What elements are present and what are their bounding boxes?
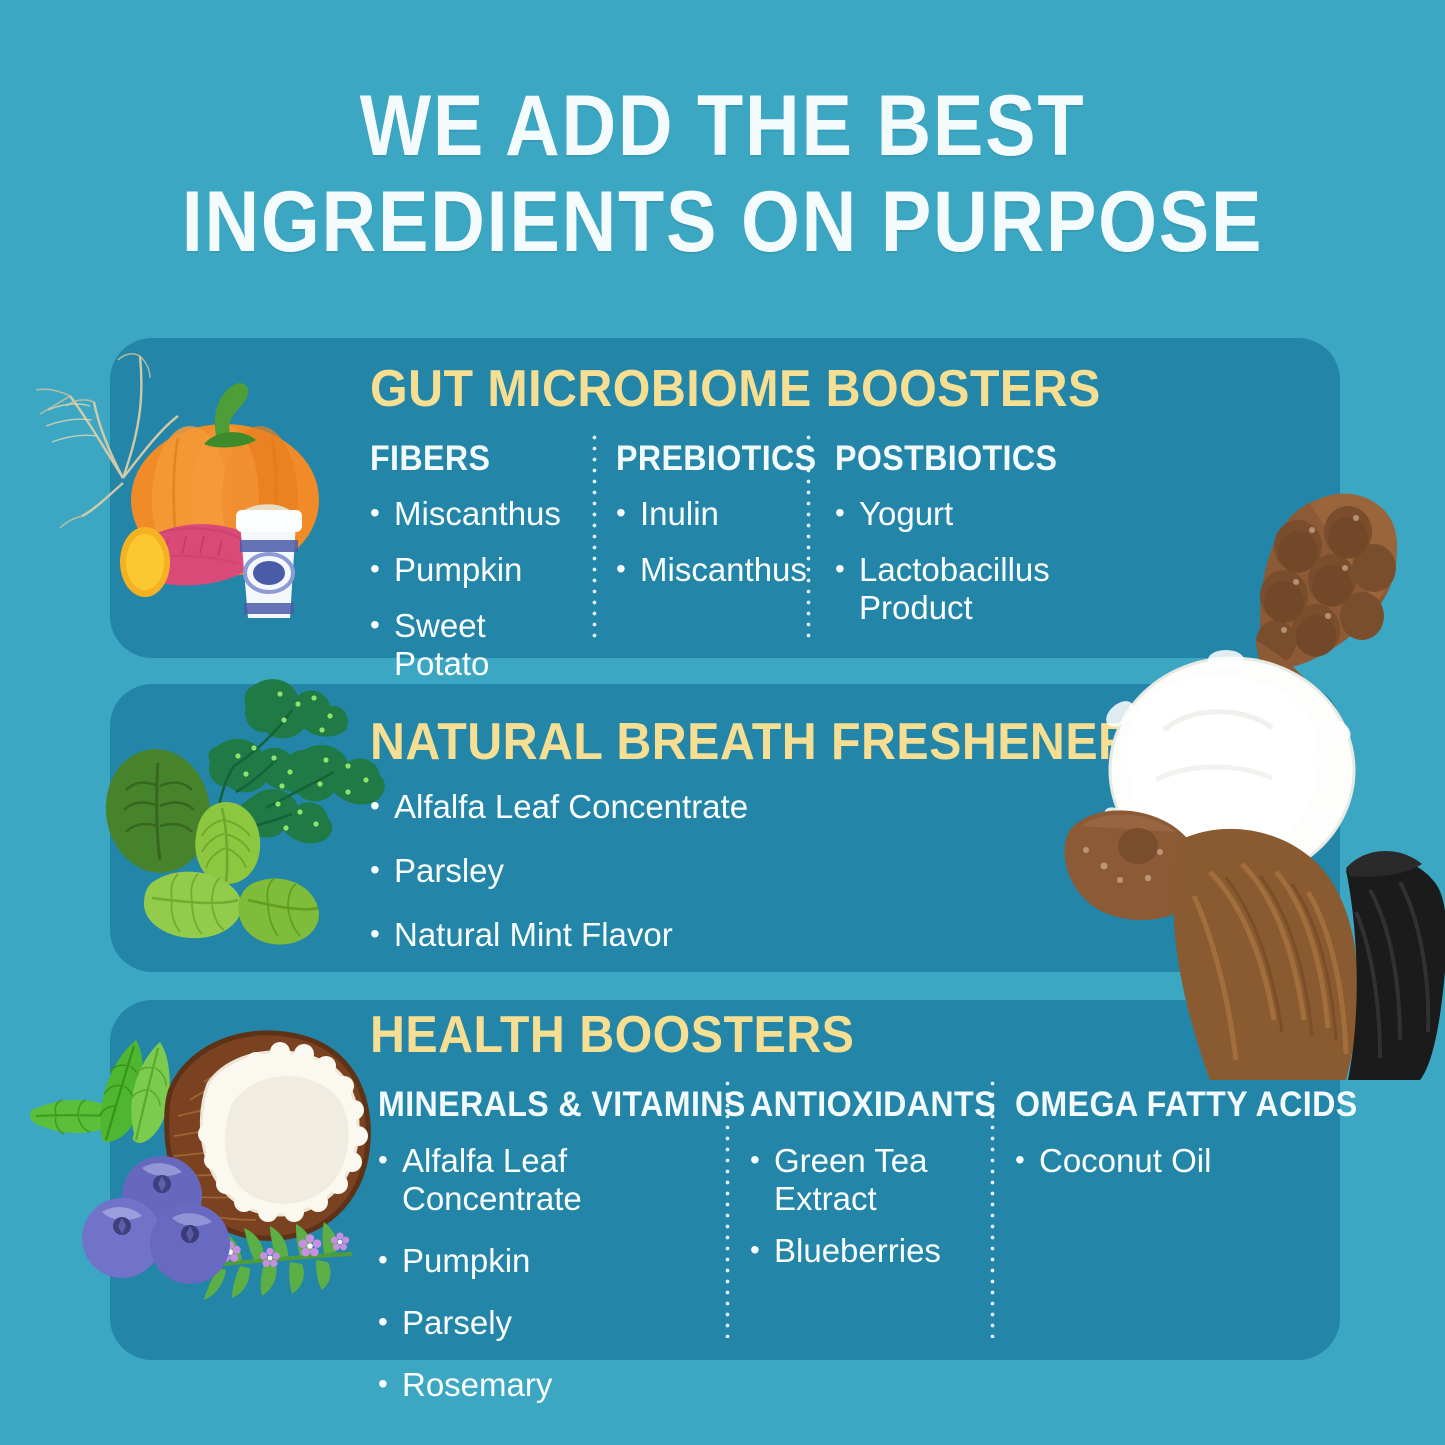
column-divider [725,1078,730,1338]
column-divider [990,1078,995,1338]
title-line-2: INGREDIENTS ON PURPOSE [87,174,1359,270]
list-item: Natural Mint Flavor [370,916,1010,954]
list-item: Yogurt [835,495,1065,533]
list-item: Lactobacillus Product [835,551,1065,627]
ingredient-list-antioxidants: Green Tea Extract Blueberries [750,1142,970,1284]
column-header-fibers: FIBERS [370,440,490,478]
list-item: Sweet Potato [370,607,590,683]
ingredient-list-minerals-vitamins: Alfalfa Leaf Concentrate Pumpkin Parsely… [378,1142,718,1428]
section-title-natural-breath-fresheners: NATURAL BREATH FRESHENERS [370,715,1166,769]
column-header-omega-fatty-acids: OMEGA FATTY ACIDS [1015,1086,1358,1124]
ingredient-list-fibers: Miscanthus Pumpkin Sweet Potato [370,495,590,701]
list-item: Parsley [370,852,1010,890]
list-item: Miscanthus [370,495,590,533]
ingredient-list-postbiotics: Yogurt Lactobacillus Product [835,495,1065,645]
title-line-1: WE ADD THE BEST [87,78,1359,174]
list-item: Coconut Oil [1015,1142,1325,1180]
list-item: Parsely [378,1304,718,1342]
list-item: Green Tea Extract [750,1142,970,1218]
list-item: Pumpkin [378,1242,718,1280]
column-header-postbiotics: POSTBIOTICS [835,440,1057,478]
infographic-poster: WE ADD THE BEST INGREDIENTS ON PURPOSE [0,0,1445,1445]
column-header-minerals-vitamins: MINERALS & VITAMINS [378,1086,746,1124]
list-item: Pumpkin [370,551,590,589]
ingredient-list-prebiotics: Inulin Miscanthus [616,495,806,607]
list-item: Miscanthus [616,551,806,589]
list-item: Inulin [616,495,806,533]
list-item: Alfalfa Leaf Concentrate [378,1142,718,1218]
column-divider [592,432,597,642]
ingredient-list-omega-fatty-acids: Coconut Oil [1015,1142,1325,1198]
column-header-prebiotics: PREBIOTICS [616,440,816,478]
list-item: Rosemary [378,1366,718,1404]
list-item: Blueberries [750,1232,970,1270]
ingredient-list-breath-fresheners: Alfalfa Leaf Concentrate Parsley Natural… [370,788,1010,980]
section-title-health-boosters: HEALTH BOOSTERS [370,1008,854,1062]
list-item: Alfalfa Leaf Concentrate [370,788,1010,826]
column-header-antioxidants: ANTIOXIDANTS [750,1086,996,1124]
section-title-gut-microbiome-boosters: GUT MICROBIOME BOOSTERS [370,362,1101,416]
column-divider [806,432,811,642]
page-title: WE ADD THE BEST INGREDIENTS ON PURPOSE [0,78,1445,270]
